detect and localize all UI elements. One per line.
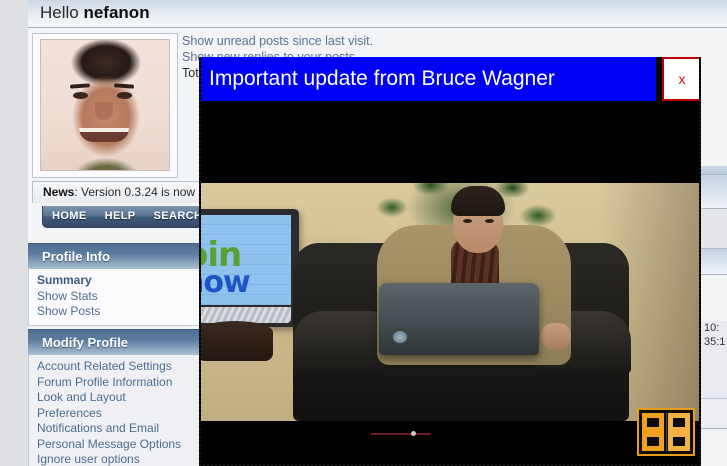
nav-item-help[interactable]: HELP bbox=[96, 206, 145, 227]
unread-posts-link[interactable]: Show unread posts since last visit. bbox=[182, 33, 582, 49]
video-progress-bar[interactable] bbox=[371, 433, 431, 435]
clock-line-2: 35:1 bbox=[700, 335, 727, 349]
nav-item-home[interactable]: HOME bbox=[43, 206, 96, 227]
sidebar-item-preferences[interactable]: Preferences bbox=[37, 406, 199, 422]
video-person-hair bbox=[451, 186, 505, 216]
office-logo-watermark bbox=[637, 408, 695, 456]
video-side-table bbox=[201, 321, 273, 361]
avatar-brow-left bbox=[70, 83, 90, 88]
office-logo-square-top-right bbox=[668, 413, 690, 432]
sidebar-item-forum-profile-information[interactable]: Forum Profile Information bbox=[37, 375, 199, 391]
avatar-mouth bbox=[79, 128, 129, 142]
panel-modify-profile: Modify Profile Account Related Settings … bbox=[28, 329, 200, 466]
sidebar-item-account-related-settings[interactable]: Account Related Settings bbox=[37, 359, 199, 375]
avatar-face-image bbox=[41, 40, 170, 171]
panel-modify-profile-body: Account Related Settings Forum Profile I… bbox=[28, 355, 200, 466]
video-player[interactable]: oin how bbox=[201, 103, 699, 462]
panel-profile-info-title: Profile Info bbox=[28, 243, 200, 269]
right-column: 10: 35:1 bbox=[700, 166, 727, 429]
office-logo-square-bottom-left bbox=[642, 432, 664, 451]
video-tv-screen: oin how bbox=[201, 215, 291, 305]
greeting-prefix: Hello bbox=[40, 3, 83, 22]
video-tv-monitor: oin how bbox=[201, 209, 299, 327]
right-strip-panel-3 bbox=[700, 249, 727, 275]
right-strip-clock: 10: 35:1 bbox=[700, 321, 727, 399]
clock-line-1: 10: bbox=[700, 321, 727, 335]
right-strip-panel-1 bbox=[700, 175, 727, 209]
office-logo-grid bbox=[642, 413, 690, 451]
right-strip-panel-4 bbox=[700, 399, 727, 429]
video-laptop bbox=[379, 283, 539, 355]
sidebar-item-ignore-user-options[interactable]: Ignore user options bbox=[37, 452, 199, 466]
sidebar-item-show-posts[interactable]: Show Posts bbox=[37, 304, 199, 320]
avatar bbox=[40, 39, 170, 171]
video-chair-arm-left bbox=[293, 311, 385, 373]
page-title: Hello nefanon bbox=[40, 3, 150, 23]
close-icon[interactable]: x bbox=[662, 57, 701, 101]
panel-profile-info-body: Summary Show Stats Show Posts bbox=[28, 269, 200, 326]
news-label: News bbox=[43, 185, 74, 199]
screen: Hello nefanon Show unread posts since la… bbox=[0, 0, 727, 466]
sidebar-item-personal-message-options[interactable]: Personal Message Options bbox=[37, 437, 199, 453]
video-progress-handle[interactable] bbox=[411, 431, 416, 436]
office-logo-square-bottom-right bbox=[668, 432, 690, 451]
panel-modify-profile-title: Modify Profile bbox=[28, 329, 200, 355]
sidebar-item-notifications-and-email[interactable]: Notifications and Email bbox=[37, 421, 199, 437]
user-card bbox=[32, 33, 178, 178]
video-frame: oin how bbox=[201, 183, 699, 421]
greeting-bar: Hello nefanon bbox=[28, 0, 727, 28]
video-right-shadow bbox=[597, 183, 699, 421]
video-person-hand bbox=[541, 323, 571, 349]
popup-title: Important update from Bruce Wagner bbox=[209, 57, 649, 101]
right-strip-panel-2 bbox=[700, 209, 727, 249]
sidebar-item-look-and-layout[interactable]: Look and Layout bbox=[37, 390, 199, 406]
right-strip-header bbox=[700, 166, 727, 175]
office-logo-square-top-left bbox=[642, 413, 664, 432]
avatar-eye-left bbox=[73, 92, 88, 99]
video-person-eye-left bbox=[463, 219, 472, 223]
video-tv-text-now: how bbox=[201, 265, 250, 300]
greeting-username: nefanon bbox=[83, 3, 149, 22]
office-logo-divider bbox=[666, 413, 667, 451]
video-laptop-logo-icon bbox=[393, 331, 407, 343]
avatar-nose bbox=[95, 102, 113, 120]
sidebar-item-summary[interactable]: Summary bbox=[37, 273, 199, 289]
avatar-brow-right bbox=[114, 83, 134, 88]
popup-dialog[interactable]: Important update from Bruce Wagner x oin… bbox=[199, 57, 701, 466]
video-person-eye-right bbox=[485, 219, 494, 223]
popup-title-bar: Important update from Bruce Wagner x bbox=[201, 57, 701, 103]
avatar-eye-right bbox=[117, 92, 132, 99]
sidebar-item-show-stats[interactable]: Show Stats bbox=[37, 289, 199, 305]
panel-profile-info: Profile Info Summary Show Stats Show Pos… bbox=[28, 243, 200, 326]
